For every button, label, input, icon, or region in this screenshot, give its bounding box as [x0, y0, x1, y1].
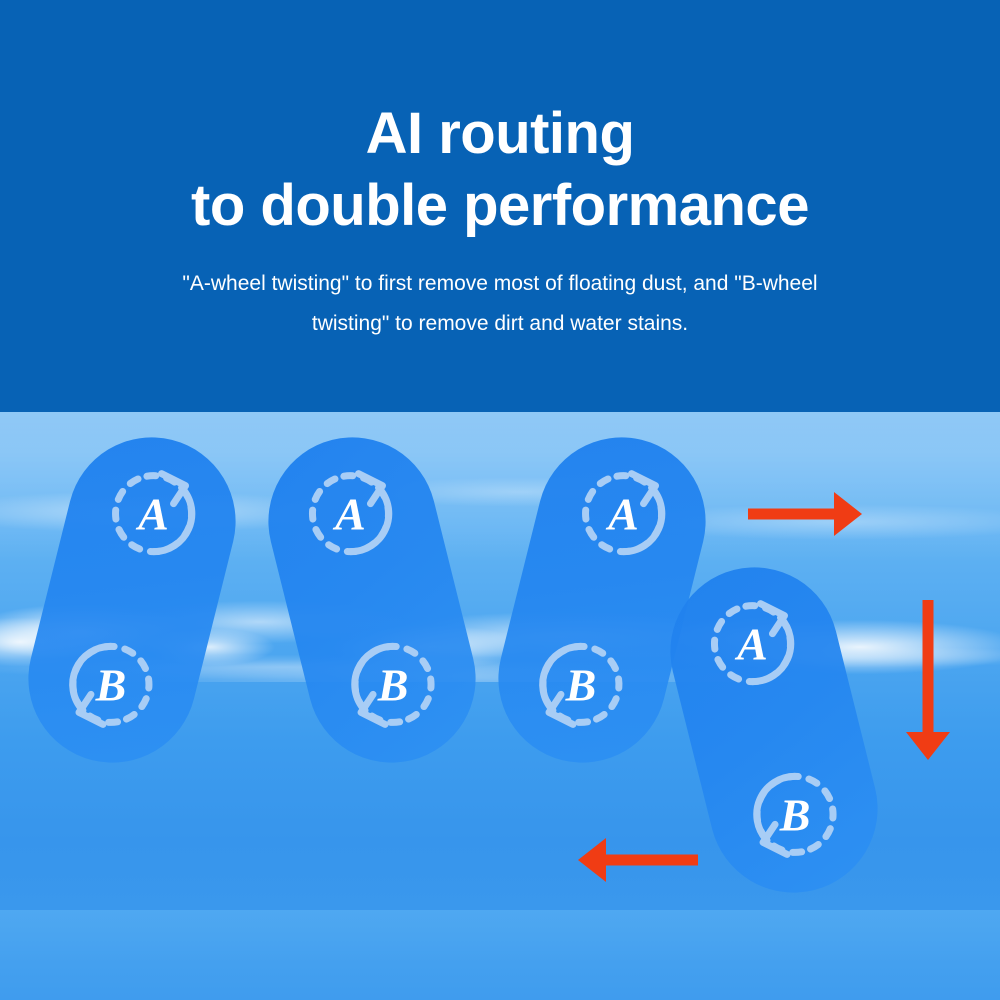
- capsule-1-wheel-a-icon: A: [100, 460, 208, 568]
- capsule-3-wheel-b-icon: B: [527, 630, 635, 738]
- header-panel: AI routing to double performance "A-whee…: [0, 0, 1000, 412]
- illustration-area: ABABABAB: [0, 412, 1000, 1000]
- capsule-2: AB: [251, 420, 494, 781]
- capsule-4-wheel-a-glyph: A: [698, 590, 806, 698]
- wheel-letter-a: A: [605, 489, 639, 540]
- capsule-3-wheel-a-icon: A: [570, 460, 678, 568]
- capsule-4-wheel-b-icon: B: [741, 760, 849, 868]
- wheel-letter-b: B: [95, 659, 127, 710]
- capsule-4-wheel-a-icon: A: [698, 590, 806, 698]
- wheel-letter-b: B: [377, 659, 409, 710]
- capsule-2-wheel-b-icon: B: [339, 630, 447, 738]
- capsule-4-wheel-b-glyph: B: [741, 760, 849, 868]
- capsule-1-wheel-a-glyph: A: [100, 460, 208, 568]
- wheel-letter-a: A: [332, 489, 366, 540]
- arrow-down-icon: [906, 600, 950, 760]
- capsule-2-wheel-a-glyph: A: [296, 460, 404, 568]
- capsule-3-wheel-b-glyph: B: [527, 630, 635, 738]
- wheel-letter-a: A: [135, 489, 169, 540]
- capsule-1-wheel-b-glyph: B: [57, 630, 165, 738]
- arrow-right-icon: [748, 492, 862, 536]
- footer-strip: [0, 910, 1000, 1000]
- capsule-1: AB: [11, 420, 254, 781]
- page-title: AI routing to double performance: [0, 98, 1000, 242]
- capsule-2-wheel-a-icon: A: [296, 460, 404, 568]
- wheel-letter-a: A: [734, 619, 768, 670]
- arrow-left-icon: [578, 838, 698, 882]
- capsule-2-wheel-b-glyph: B: [339, 630, 447, 738]
- wheel-letter-b: B: [779, 789, 811, 840]
- page-subtitle: "A-wheel twisting" to first remove most …: [100, 264, 900, 344]
- wheel-letter-b: B: [565, 659, 597, 710]
- capsule-1-wheel-b-icon: B: [57, 630, 165, 738]
- promo-banner: AI routing to double performance "A-whee…: [0, 0, 1000, 1000]
- capsule-3-wheel-a-glyph: A: [570, 460, 678, 568]
